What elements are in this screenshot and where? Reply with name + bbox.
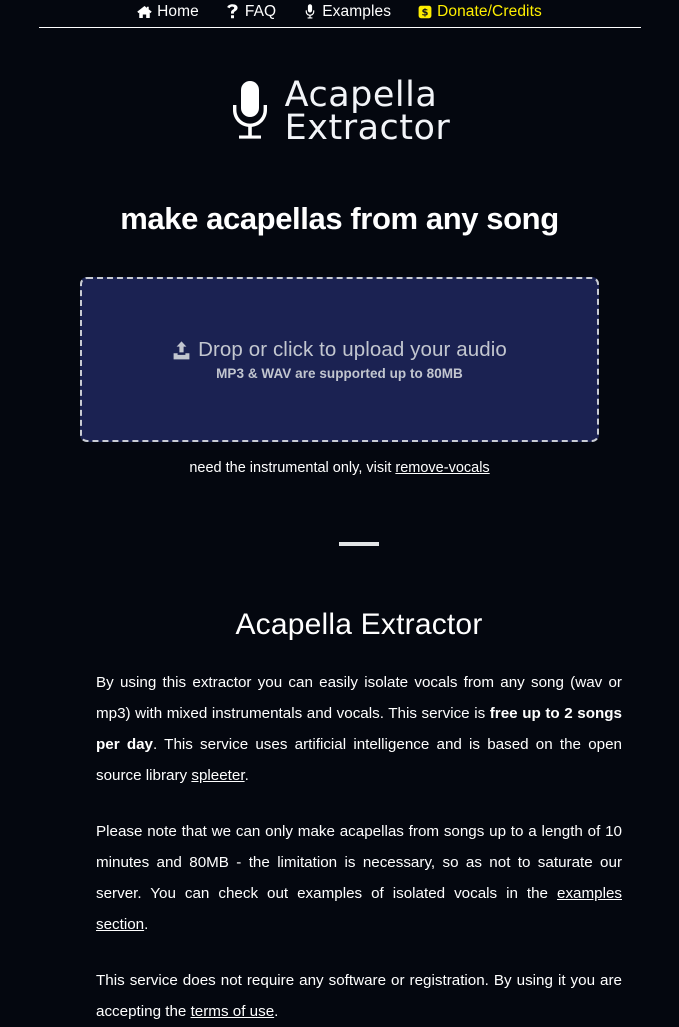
nav-item-examples-label: Examples [322, 4, 391, 20]
remove-vocals-link[interactable]: remove-vocals [395, 460, 489, 476]
about-paragraph: By using this extractor you can easily i… [96, 667, 622, 791]
upload-icon [172, 340, 190, 360]
nav-item-examples[interactable]: Examples [302, 4, 391, 20]
nav-item-home-label: Home [157, 4, 199, 20]
paragraph-text: . [274, 1003, 278, 1020]
nav-item-donate-credits[interactable]: $ Donate/Credits [417, 4, 542, 20]
paragraph-text: . [245, 767, 249, 784]
microphone-icon [229, 76, 271, 148]
inline-link[interactable]: spleeter [191, 767, 244, 784]
nav-item-donate-credits-label: Donate/Credits [437, 4, 542, 20]
paragraph-text: This service does not require any softwa… [96, 972, 622, 1020]
paragraph-text: . [144, 916, 148, 933]
svg-text:$: $ [421, 7, 428, 18]
paragraph-text: Please note that we can only make acapel… [96, 823, 622, 902]
dropzone-primary-label: Drop or click to upload your audio [198, 338, 507, 362]
instrumental-hint-text: need the instrumental only, visit [189, 460, 395, 476]
logo-line-2: Extractor [285, 112, 451, 145]
about-section: Acapella Extractor By using this extract… [96, 608, 622, 1027]
dollar-coin-icon: $ [417, 4, 432, 19]
dropzone-secondary-label: MP3 & WAV are supported up to 80MB [216, 366, 463, 381]
about-paragraph: This service does not require any softwa… [96, 965, 622, 1027]
nav-item-home[interactable]: Home [137, 4, 199, 20]
dropzone-primary-row: Drop or click to upload your audio [172, 338, 507, 362]
top-navigation-bar: Home FAQ Examples [0, 0, 679, 28]
nav-divider-rule [39, 27, 641, 28]
site-logo[interactable]: Acapella Extractor [0, 76, 679, 148]
page-title: make acapellas from any song [0, 201, 679, 237]
nav-links: Home FAQ Examples [0, 1, 679, 22]
about-heading: Acapella Extractor [96, 608, 622, 642]
question-mark-icon [225, 4, 240, 19]
home-icon [137, 4, 152, 19]
inline-link[interactable]: terms of use [191, 1003, 275, 1020]
upload-dropzone[interactable]: Drop or click to upload your audio MP3 &… [80, 277, 599, 442]
microphone-icon [302, 4, 317, 19]
instrumental-hint: need the instrumental only, visit remove… [0, 460, 679, 476]
about-paragraph: Please note that we can only make acapel… [96, 816, 622, 940]
logo-wordmark: Acapella Extractor [285, 79, 451, 146]
about-paragraphs: By using this extractor you can easily i… [96, 667, 622, 1027]
nav-item-faq[interactable]: FAQ [225, 4, 276, 20]
section-divider [339, 542, 379, 546]
paragraph-text: . This service uses artificial intellige… [96, 736, 622, 784]
nav-item-faq-label: FAQ [245, 4, 276, 20]
